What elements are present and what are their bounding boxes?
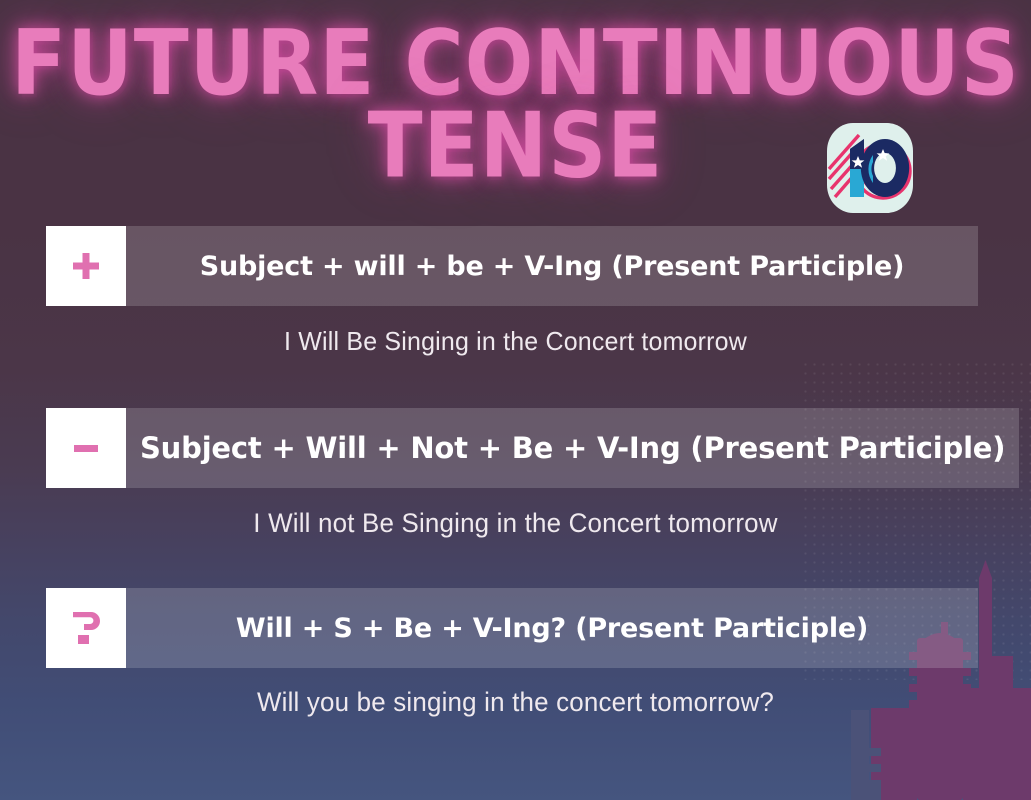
- example-sentence-interrogative: Will you be singing in the concert tomor…: [21, 687, 1011, 718]
- infographic-poster: Future Continuous Tense: [0, 0, 1031, 800]
- formula-row-affirmative: Subject + will + be + V-Ing (Present Par…: [46, 226, 978, 306]
- example-sentence-affirmative: I Will Be Singing in the Concert tomorro…: [21, 326, 1011, 357]
- sign-badge-minus: [46, 408, 126, 488]
- plus-icon: [70, 250, 102, 282]
- formula-bar: Will + S + Be + V-Ing? (Present Particip…: [126, 588, 978, 668]
- minus-icon: [70, 432, 102, 464]
- formula-text: Subject + Will + Not + Be + V-Ing (Prese…: [140, 431, 1005, 465]
- formula-text: Will + S + Be + V-Ing? (Present Particip…: [236, 613, 868, 644]
- formula-bar: Subject + Will + Not + Be + V-Ing (Prese…: [126, 408, 1019, 488]
- example-sentence-negative: I Will not Be Singing in the Concert tom…: [21, 508, 1011, 539]
- 10-badge-logo: [827, 123, 913, 213]
- formula-row-negative: Subject + Will + Not + Be + V-Ing (Prese…: [46, 408, 978, 488]
- formula-text: Subject + will + be + V-Ing (Present Par…: [200, 251, 905, 282]
- sign-badge-question: [46, 588, 126, 668]
- formula-row-interrogative: Will + S + Be + V-Ing? (Present Particip…: [46, 588, 978, 668]
- sign-badge-plus: [46, 226, 126, 306]
- formula-bar: Subject + will + be + V-Ing (Present Par…: [126, 226, 978, 306]
- question-icon: [69, 610, 103, 646]
